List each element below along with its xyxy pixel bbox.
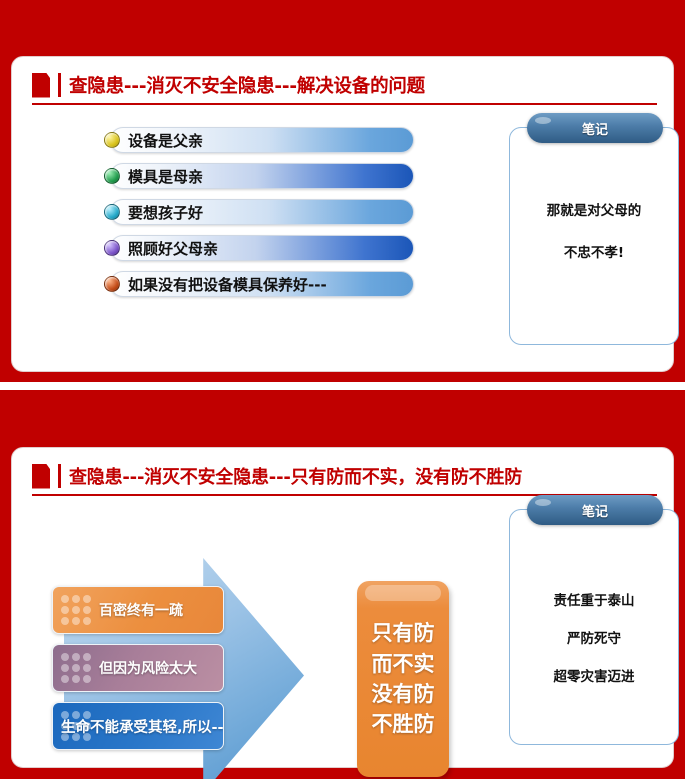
bullet-dot-icon [104, 204, 120, 220]
slide-deck-page: 查隐患---消灭不安全隐患---解决设备的问题 设备是父亲 模具是母亲 [0, 0, 685, 779]
statement-box[interactable]: 但因为风险太大 [52, 644, 224, 692]
bullet-label: 照顾好父母亲 [128, 238, 218, 259]
bullet-item[interactable]: 模具是母亲 [104, 163, 414, 189]
bullet-item[interactable]: 照顾好父母亲 [104, 235, 414, 261]
statement-label: 生命不能承受其轻,所以-- [61, 716, 224, 737]
bullet-item[interactable]: 要想孩子好 [104, 199, 414, 225]
conclusion-line: 而不实 [372, 649, 435, 679]
bullet-dot-icon [104, 132, 120, 148]
note-content: 责任重于泰山 严防死守 超零灾害迈进 [509, 589, 679, 703]
flag-icon [32, 73, 50, 98]
conclusion-line: 只有防 [372, 618, 435, 648]
slide-1-title: 查隐患---消灭不安全隐患---解决设备的问题 [69, 72, 425, 98]
note-line: 不忠不孝! [509, 241, 679, 261]
slide-1-card: 查隐患---消灭不安全隐患---解决设备的问题 设备是父亲 模具是母亲 [11, 56, 674, 372]
bullet-label: 如果没有把设备模具保养好--- [128, 274, 327, 295]
bullet-label: 设备是父亲 [128, 130, 203, 151]
statement-label: 百密终有一疏 [99, 600, 183, 620]
slide-1-title-row: 查隐患---消灭不安全隐患---解决设备的问题 [32, 68, 657, 102]
note-line: 责任重于泰山 [509, 589, 679, 609]
bullet-item[interactable]: 设备是父亲 [104, 127, 414, 153]
slide-1: 查隐患---消灭不安全隐患---解决设备的问题 设备是父亲 模具是母亲 [0, 0, 685, 382]
slide-2-card: 查隐患---消灭不安全隐患---只有防而不实，没有防不胜防 百密终有一疏 但因为… [11, 447, 674, 768]
bullet-dot-icon [104, 168, 120, 184]
conclusion-box: 只有防 而不实 没有防 不胜防 [357, 581, 449, 777]
note-line: 超零灾害迈进 [509, 665, 679, 685]
title-divider [58, 73, 61, 97]
slide-1-note-panel: 笔记 那就是对父母的 不忠不孝! [509, 113, 679, 345]
slide-2-title: 查隐患---消灭不安全隐患---只有防而不实，没有防不胜防 [69, 463, 522, 489]
bullet-item[interactable]: 如果没有把设备模具保养好--- [104, 271, 414, 297]
note-header-pill: 笔记 [527, 113, 663, 143]
conclusion-line: 不胜防 [372, 709, 435, 739]
statement-label: 但因为风险太大 [99, 658, 197, 678]
note-header-label: 笔记 [582, 501, 608, 520]
bullet-label: 要想孩子好 [128, 202, 203, 223]
title-divider [58, 464, 61, 488]
note-header-label: 笔记 [582, 119, 608, 138]
dot-grid-icon [61, 595, 95, 625]
slide-2-title-row: 查隐患---消灭不安全隐患---只有防而不实，没有防不胜防 [32, 459, 657, 493]
bullet-label: 模具是母亲 [128, 166, 203, 187]
statement-box[interactable]: 生命不能承受其轻,所以-- [52, 702, 224, 750]
flag-icon [32, 464, 50, 489]
slide-2: 查隐患---消灭不安全隐患---只有防而不实，没有防不胜防 百密终有一疏 但因为… [0, 390, 685, 779]
bullet-dot-icon [104, 276, 120, 292]
dot-grid-icon [61, 653, 95, 683]
bullet-dot-icon [104, 240, 120, 256]
slide-2-box-list: 百密终有一疏 但因为风险太大 生命不能承受其轻,所以-- [52, 586, 224, 760]
note-line: 严防死守 [509, 627, 679, 647]
slide-1-title-underline [32, 103, 657, 105]
note-content: 那就是对父母的 不忠不孝! [509, 199, 679, 283]
slide-2-note-panel: 笔记 责任重于泰山 严防死守 超零灾害迈进 [509, 495, 679, 745]
slide-1-bullet-list: 设备是父亲 模具是母亲 要想孩子好 照顾好父母亲 [104, 127, 414, 307]
conclusion-line: 没有防 [372, 679, 435, 709]
note-line: 那就是对父母的 [509, 199, 679, 219]
note-header-pill: 笔记 [527, 495, 663, 525]
statement-box[interactable]: 百密终有一疏 [52, 586, 224, 634]
